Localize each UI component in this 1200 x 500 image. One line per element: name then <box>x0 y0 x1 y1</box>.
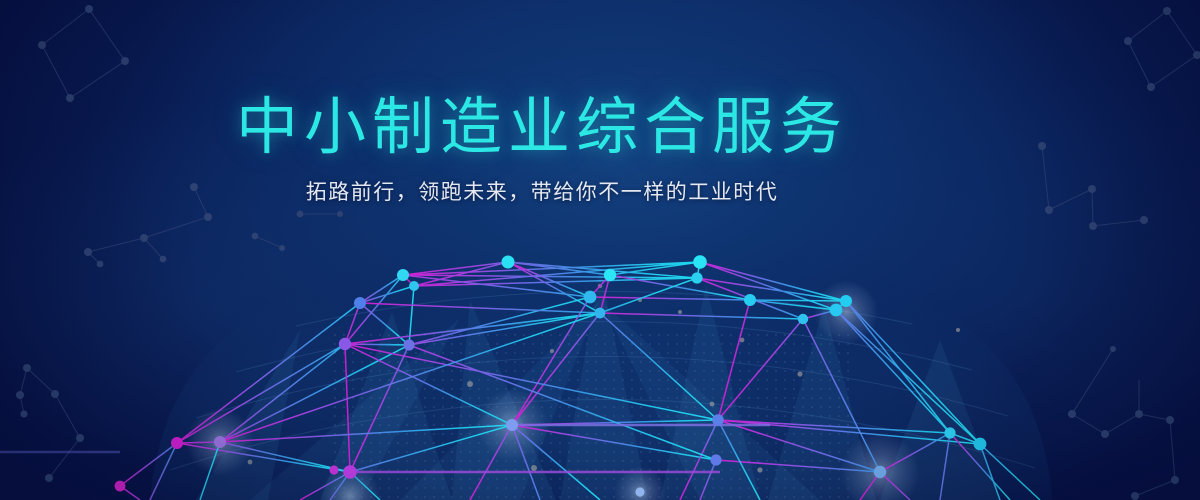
page-subtitle: 拓路前行，领跑未来，带给你不一样的工业时代 <box>0 180 1142 205</box>
page-title: 中小制造业综合服务 <box>0 96 1142 158</box>
wireframe-network-dome <box>0 0 1200 500</box>
hero-banner: 中小制造业综合服务 拓路前行，领跑未来，带给你不一样的工业时代 <box>0 0 1200 500</box>
hero-text-block: 中小制造业综合服务 拓路前行，领跑未来，带给你不一样的工业时代 <box>0 96 1142 205</box>
